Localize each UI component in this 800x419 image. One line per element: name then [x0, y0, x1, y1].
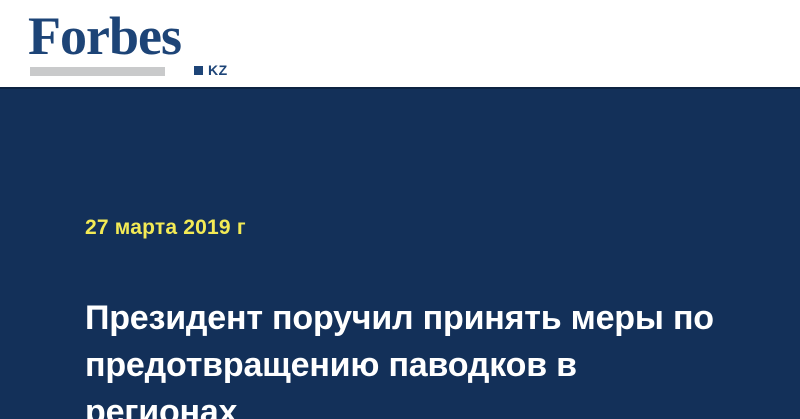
site-masthead: Forbes KZ — [0, 0, 800, 88]
forbes-wordmark: Forbes — [28, 8, 181, 64]
article-headline: Президент поручил принять меры по предот… — [85, 295, 725, 419]
logo-underbar — [30, 67, 165, 76]
forbes-kz-logo[interactable]: Forbes KZ — [28, 8, 238, 78]
logo-kz-suffix: KZ — [208, 63, 228, 77]
logo-square-icon — [194, 66, 203, 75]
article-hero-page: Forbes KZ 27 марта 2019 г Президент пору… — [0, 0, 800, 419]
article-date: 27 марта 2019 г — [85, 215, 246, 241]
hero-banner: 27 марта 2019 г Президент поручил принят… — [0, 89, 800, 419]
